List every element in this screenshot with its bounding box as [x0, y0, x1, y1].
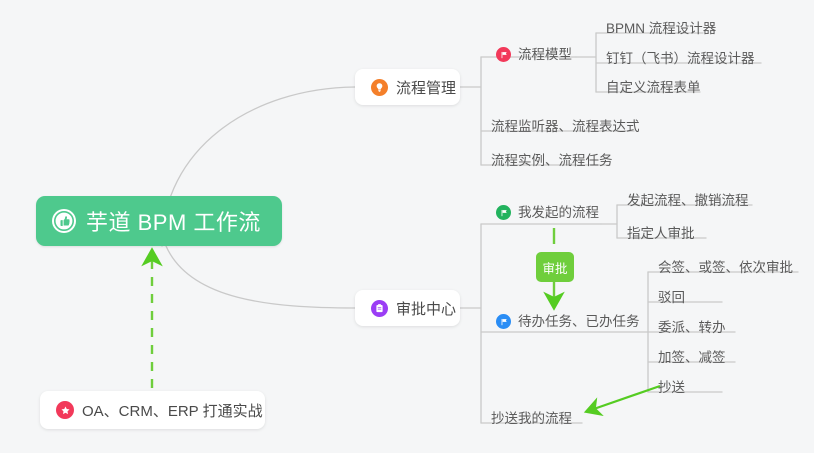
leaf-todo-done-tasks[interactable]: 待办任务、已办任务 — [496, 314, 640, 329]
leaf-label: 我发起的流程 — [518, 206, 599, 220]
leaf-bpmn-designer[interactable]: BPMN 流程设计器 — [606, 22, 716, 36]
branch-label-process-management: 流程管理 — [396, 77, 456, 98]
mindmap-canvas: 芋道 BPM 工作流 流程管理 审批中心 — [0, 0, 814, 453]
leaf-label: 流程模型 — [518, 48, 572, 62]
leaf-cc-to-me[interactable]: 抄送我的流程 — [491, 412, 572, 426]
clipboard-icon — [371, 300, 388, 317]
star-icon — [56, 401, 74, 419]
flag-icon — [496, 205, 511, 220]
flag-icon — [496, 314, 511, 329]
root-label: 芋道 BPM 工作流 — [86, 205, 261, 237]
leaf-process-instance[interactable]: 流程实例、流程任务 — [491, 154, 613, 168]
flag-icon — [496, 47, 511, 62]
leaf-countersign[interactable]: 会签、或签、依次审批 — [658, 261, 793, 275]
branch-node-approval-center[interactable]: 审批中心 — [355, 290, 460, 326]
thumbs-up-icon — [52, 209, 76, 233]
standalone-node-label: OA、CRM、ERP 打通实战 — [82, 400, 263, 421]
cc-flow-arrow — [588, 386, 660, 411]
leaf-add-remove-sign[interactable]: 加签、减签 — [658, 351, 726, 365]
leaf-my-initiated[interactable]: 我发起的流程 — [496, 205, 599, 220]
leaf-custom-form[interactable]: 自定义流程表单 — [606, 81, 701, 95]
leaf-process-listener[interactable]: 流程监听器、流程表达式 — [491, 120, 640, 134]
leaf-process-model[interactable]: 流程模型 — [496, 47, 572, 62]
leaf-assignee-approval[interactable]: 指定人审批 — [627, 227, 695, 241]
leaf-reject[interactable]: 驳回 — [658, 291, 685, 305]
branch-node-process-management[interactable]: 流程管理 — [355, 69, 460, 105]
leaf-start-cancel-process[interactable]: 发起流程、撤销流程 — [627, 194, 749, 208]
standalone-node-oa-integration[interactable]: OA、CRM、ERP 打通实战 — [40, 391, 265, 429]
approval-badge[interactable]: 审批 — [536, 252, 574, 282]
root-node[interactable]: 芋道 BPM 工作流 — [36, 196, 282, 246]
leaf-dingtalk-designer[interactable]: 钉钉（飞书）流程设计器 — [606, 52, 755, 66]
approval-badge-label: 审批 — [542, 258, 567, 277]
branch-label-approval-center: 审批中心 — [396, 298, 456, 319]
leaf-label: 待办任务、已办任务 — [518, 315, 640, 329]
leaf-delegate-transfer[interactable]: 委派、转办 — [658, 321, 726, 335]
lightbulb-icon — [371, 79, 388, 96]
leaf-cc[interactable]: 抄送 — [658, 381, 685, 395]
